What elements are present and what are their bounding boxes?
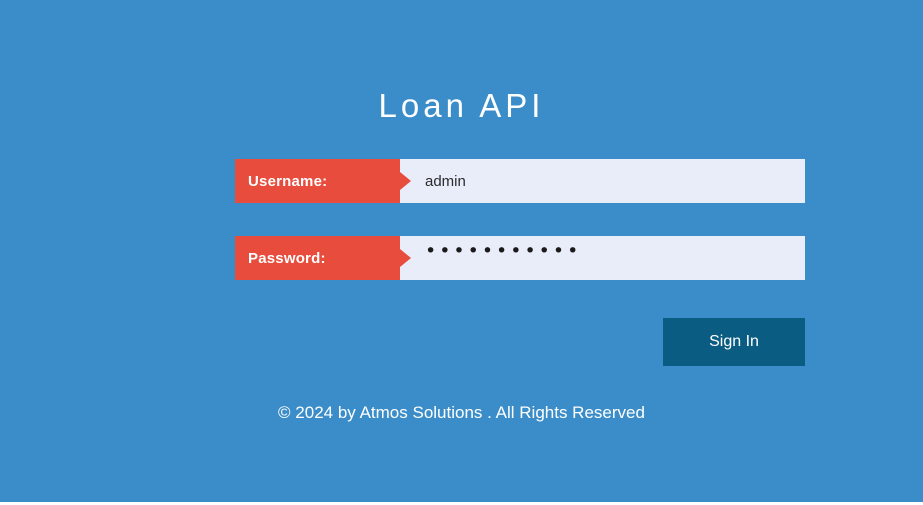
password-input[interactable]: ••••••••••• [400, 236, 805, 280]
page-title: Loan API [0, 84, 923, 128]
arrow-right-icon [400, 249, 411, 267]
password-input-value: ••••••••••• [425, 244, 581, 258]
login-page: Loan API Username: admin Password: •••••… [0, 0, 923, 505]
arrow-right-icon [400, 172, 411, 190]
sign-in-button[interactable]: Sign In [663, 318, 805, 366]
password-field-row: Password: ••••••••••• [235, 236, 805, 280]
password-label-text: Password: [248, 250, 326, 267]
submit-row: Sign In [235, 318, 805, 366]
username-label-text: Username: [248, 173, 327, 190]
footer-copyright: © 2024 by Atmos Solutions . All Rights R… [0, 402, 923, 424]
username-input-value: admin [425, 173, 466, 190]
username-input[interactable]: admin [400, 159, 805, 203]
login-form: Username: admin Password: ••••••••••• [235, 159, 805, 280]
password-label: Password: [235, 236, 400, 280]
username-field-row: Username: admin [235, 159, 805, 203]
username-label: Username: [235, 159, 400, 203]
